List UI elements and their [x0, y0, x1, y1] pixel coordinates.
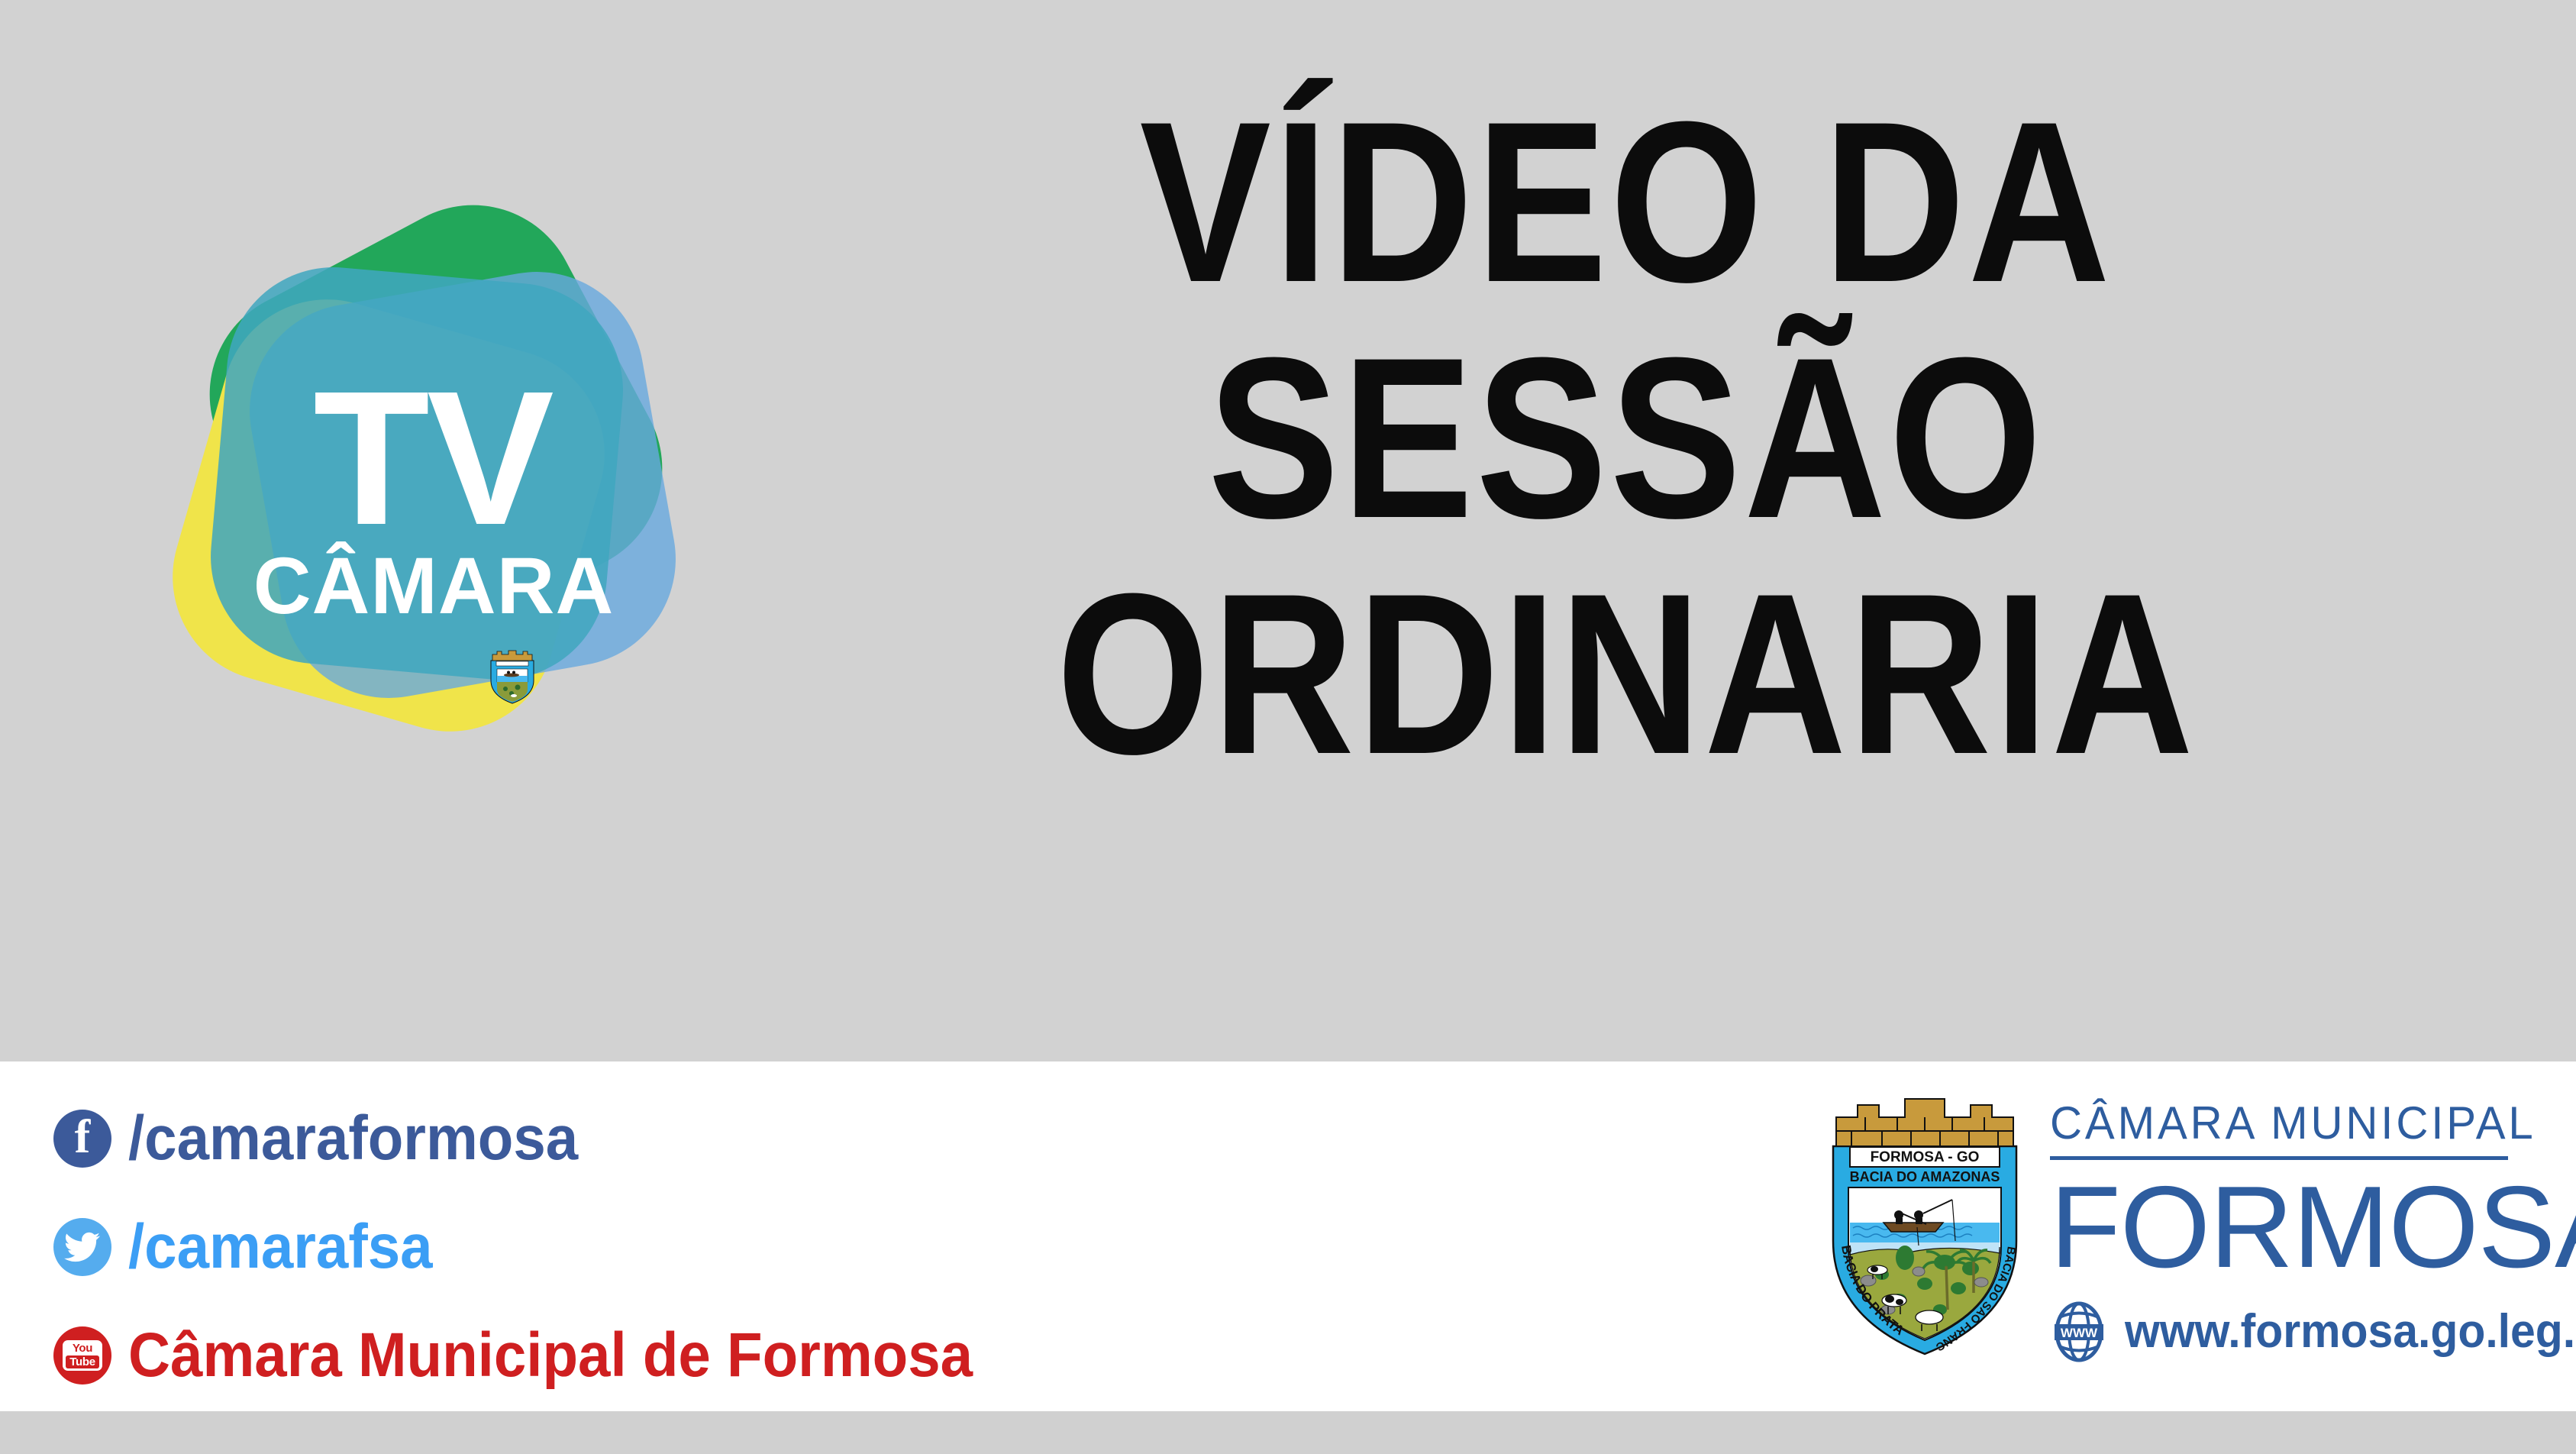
facebook-f-glyph: f — [75, 1113, 91, 1161]
svg-text:WWW: WWW — [2061, 1326, 2098, 1340]
brand-website-row[interactable]: WWW www.formosa.go.leg.br — [2050, 1301, 2508, 1363]
tv-camara-logo: TV CÂMARA — [150, 229, 699, 771]
brand-website-url[interactable]: www.formosa.go.leg.br — [2125, 1308, 2576, 1355]
tv-logo-crest-icon — [489, 645, 536, 705]
social-row-facebook[interactable]: f /camaraformosa — [53, 1084, 1199, 1193]
brand-top-line: CÂMARA MUNICIPAL — [2050, 1100, 2494, 1146]
page-title: VÍDEO DA SESSÃO ORDINARIA — [845, 84, 2408, 792]
brand-block: FORMOSA - GO BACIA DO AMAZONAS — [1829, 1081, 2516, 1409]
brand-wordmark: CÂMARA MUNICIPAL FORMOSA WWW www.formosa… — [2050, 1100, 2508, 1363]
bottom-strip — [0, 1411, 2576, 1454]
formosa-coat-of-arms-icon: FORMOSA - GO BACIA DO AMAZONAS — [1829, 1088, 2021, 1357]
youtube-tube-glyph: Tube — [66, 1355, 99, 1368]
facebook-handle-label: /camaraformosa — [128, 1107, 578, 1170]
twitter-handle-label: /camarafsa — [128, 1216, 433, 1278]
headline-line-3: ORDINARIA — [845, 556, 2408, 792]
headline-line-1: VÍDEO DA — [845, 84, 2408, 320]
poster-canvas: TV CÂMARA VÍDEO DA SESSÃO ORDINARIA — [0, 0, 2576, 1454]
youtube-you-glyph: You — [73, 1343, 92, 1354]
svg-text:BACIA DO AMAZONAS: BACIA DO AMAZONAS — [1850, 1169, 2000, 1184]
logo-shape-teal — [202, 258, 631, 688]
facebook-icon[interactable]: f — [53, 1110, 111, 1168]
svg-text:FORMOSA - GO: FORMOSA - GO — [1871, 1149, 1980, 1165]
youtube-glyph-box: You Tube — [63, 1340, 102, 1371]
social-row-youtube[interactable]: You Tube Câmara Municipal de Formosa — [53, 1301, 1199, 1410]
brand-main-line: FORMOSA — [2050, 1169, 2508, 1285]
brand-divider — [2050, 1156, 2508, 1160]
twitter-bird-glyph — [64, 1232, 101, 1262]
headline-line-2: SESSÃO — [845, 320, 2408, 556]
social-links-list: f /camaraformosa /camarafsa You Tube Câm… — [53, 1084, 1199, 1410]
social-row-twitter[interactable]: /camarafsa — [53, 1193, 1199, 1301]
www-globe-icon: WWW — [2050, 1301, 2108, 1363]
youtube-icon[interactable]: You Tube — [53, 1326, 111, 1385]
youtube-channel-label: Câmara Municipal de Formosa — [128, 1324, 973, 1387]
twitter-icon[interactable] — [53, 1218, 111, 1276]
